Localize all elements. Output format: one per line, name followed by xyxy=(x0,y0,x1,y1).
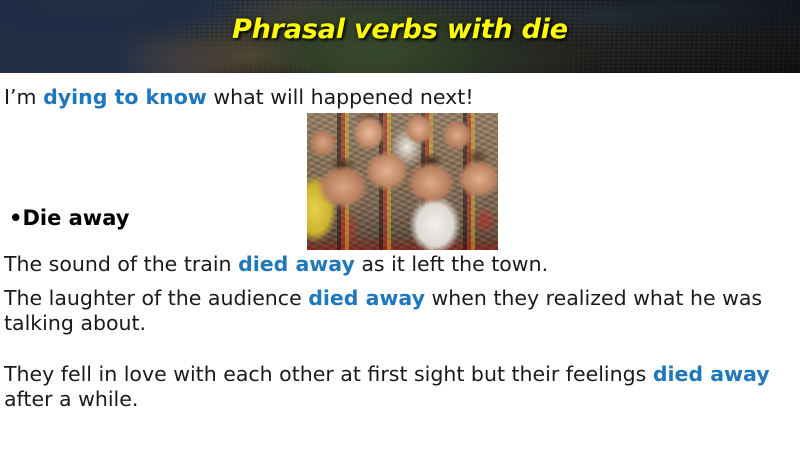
example-2-phrasal-verb: died away xyxy=(308,286,425,310)
bullet-item-die-away: •Die away xyxy=(9,206,129,230)
example-2-before: The laughter of the audience xyxy=(4,286,308,310)
disappointed-crowd-photo xyxy=(307,113,498,250)
intro-phrasal-verb: dying to know xyxy=(43,85,207,109)
bullet-label: Die away xyxy=(22,206,129,230)
crowd-photo-image xyxy=(307,113,498,250)
example-sentence-3: They fell in love with each other at fir… xyxy=(4,362,772,412)
example-3-before: They fell in love with each other at fir… xyxy=(4,362,653,386)
example-3-after: after a while. xyxy=(4,387,138,411)
example-1-phrasal-verb: died away xyxy=(238,252,355,276)
title-banner: Phrasal verbs with die xyxy=(0,0,800,73)
example-1-before: The sound of the train xyxy=(4,252,238,276)
example-3-phrasal-verb: died away xyxy=(653,362,770,386)
page-title: Phrasal verbs with die xyxy=(0,14,800,45)
example-sentence-2: The laughter of the audience died away w… xyxy=(4,286,772,336)
example-1-after: as it left the town. xyxy=(355,252,548,276)
intro-text-after: what will happened next! xyxy=(207,85,474,109)
slide: Phrasal verbs with die I’m dying to know… xyxy=(0,0,800,450)
intro-text-before: I’m xyxy=(4,85,43,109)
intro-sentence: I’m dying to know what will happened nex… xyxy=(4,85,474,110)
example-sentence-1: The sound of the train died away as it l… xyxy=(4,252,548,277)
bullet-marker-icon: • xyxy=(9,206,22,230)
